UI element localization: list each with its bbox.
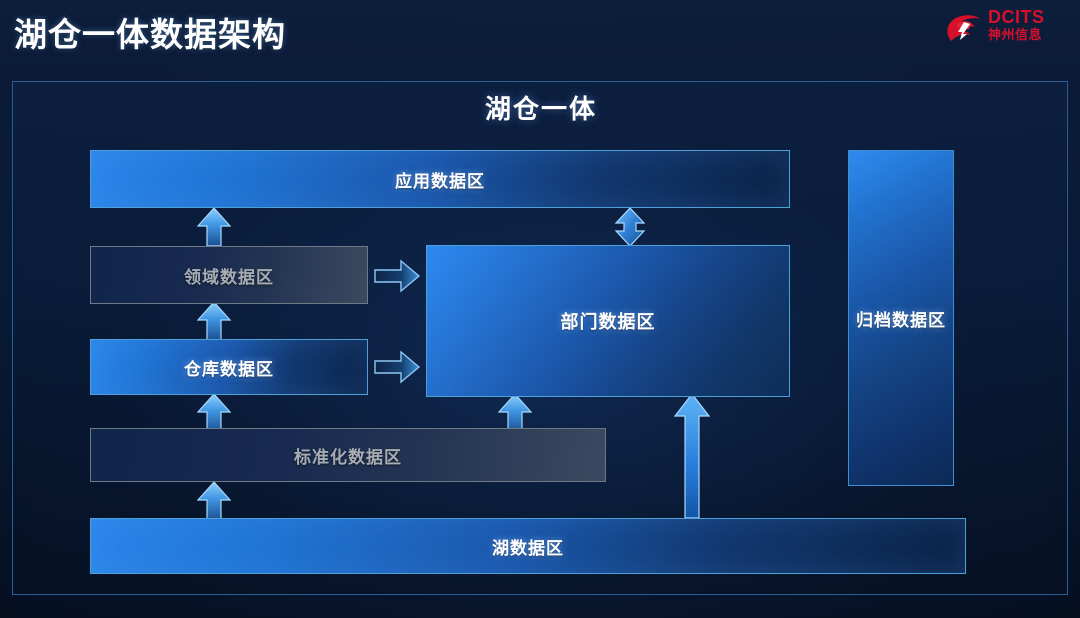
dcits-swirl-icon (944, 10, 984, 46)
arrow-warehouse-to-department (373, 349, 421, 385)
arrow-lake-to-department (672, 392, 712, 520)
slide-header: 湖仓一体数据架构 DCITS 神州信息 (0, 0, 1080, 62)
zone-archive-data-label: 归档数据区 (856, 306, 946, 331)
zone-standardization-data[interactable]: 标准化数据区 (90, 428, 606, 482)
zone-lake-data[interactable]: 湖数据区 (90, 518, 966, 574)
brand-logo-text: DCITS 神州信息 (988, 8, 1068, 43)
panel-title: 湖仓一体 (13, 89, 1069, 126)
zone-application-data-label: 应用数据区 (395, 167, 485, 192)
zone-warehouse-data[interactable]: 仓库数据区 (90, 339, 368, 395)
zone-application-data[interactable]: 应用数据区 (90, 150, 790, 208)
brand-logo: DCITS 神州信息 (944, 6, 1068, 52)
zone-lake-data-label: 湖数据区 (492, 534, 564, 559)
zone-archive-data[interactable]: 归档数据区 (848, 150, 954, 486)
zone-warehouse-data-label: 仓库数据区 (184, 355, 274, 380)
brand-name-en: DCITS (988, 8, 1068, 27)
zone-standardization-data-label: 标准化数据区 (294, 443, 402, 468)
zone-department-data-label: 部门数据区 (561, 308, 656, 334)
arrow-application-department-bidirectional (610, 206, 650, 248)
brand-name-cn: 神州信息 (988, 27, 1068, 43)
zone-department-data[interactable]: 部门数据区 (426, 245, 790, 397)
slide-canvas: 湖仓一体数据架构 DCITS 神州信息 湖仓一体 (0, 0, 1080, 618)
arrow-domain-to-application (196, 206, 232, 248)
arrow-domain-to-department (373, 258, 421, 294)
arrow-lake-to-standardization (196, 480, 232, 522)
page-title: 湖仓一体数据架构 (14, 8, 286, 56)
arrow-warehouse-to-domain (196, 300, 232, 342)
zone-domain-data[interactable]: 领域数据区 (90, 246, 368, 304)
zone-domain-data-label: 领域数据区 (184, 263, 274, 288)
